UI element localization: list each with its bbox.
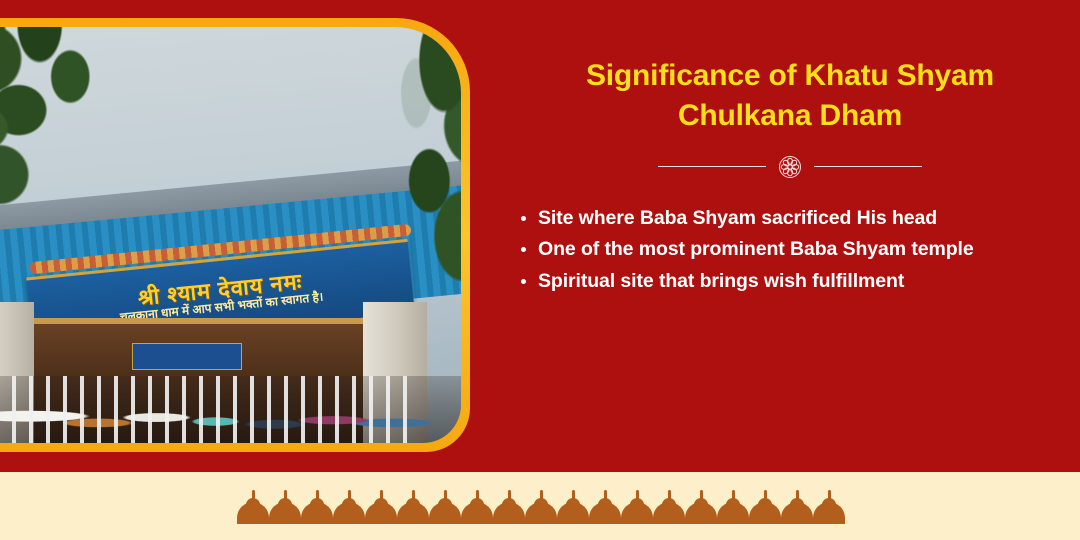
divider-rule-right [814, 166, 922, 167]
temple-dome-icon [365, 490, 397, 524]
temple-dome-icon [589, 490, 621, 524]
temple-dome-icon [685, 490, 717, 524]
page-title: Significance of Khatu Shyam Chulkana Dha… [500, 0, 1080, 136]
photo-tree-left [0, 27, 176, 252]
temple-dome-icon [237, 490, 269, 524]
list-item: Site where Baba Shyam sacrificed His hea… [512, 203, 1062, 235]
temple-dome-icon [301, 490, 333, 524]
poster-canvas: श्री श्याम देवाय नमः चुलकाना धाम में आप … [0, 0, 1080, 540]
temple-dome-icon [493, 490, 525, 524]
temple-dome-row [237, 488, 843, 524]
temple-dome-icon [781, 490, 813, 524]
temple-dome-icon [333, 490, 365, 524]
content-column: Significance of Khatu Shyam Chulkana Dha… [500, 0, 1080, 470]
temple-dome-icon [621, 490, 653, 524]
divider-rule-left [658, 166, 766, 167]
list-item: One of the most prominent Baba Shyam tem… [512, 234, 1062, 266]
temple-dome-icon [717, 490, 749, 524]
temple-entrance-photo: श्री श्याम देवाय नमः चुलकाना धाम में आप … [0, 27, 461, 443]
dome-row-baseline [237, 520, 843, 524]
temple-dome-icon [813, 490, 845, 524]
bottom-decorative-band [0, 472, 1080, 540]
temple-dome-icon [397, 490, 429, 524]
temple-dome-icon [269, 490, 301, 524]
list-item: Spiritual site that brings wish fulfillm… [512, 266, 1062, 298]
temple-dome-icon [461, 490, 493, 524]
temple-dome-icon [749, 490, 781, 524]
photo-frame: श्री श्याम देवाय नमः चुलकाना धाम में आप … [0, 18, 470, 452]
photo-queue-railing [0, 376, 412, 443]
photo-inner-sign [132, 343, 242, 370]
photo-tree-right [314, 27, 461, 327]
title-divider [640, 155, 940, 179]
temple-dome-icon [653, 490, 685, 524]
temple-dome-icon [525, 490, 557, 524]
rosette-flower-icon [778, 155, 802, 179]
temple-dome-icon [557, 490, 589, 524]
temple-dome-icon [429, 490, 461, 524]
significance-bullet-list: Site where Baba Shyam sacrificed His hea… [500, 203, 1080, 298]
